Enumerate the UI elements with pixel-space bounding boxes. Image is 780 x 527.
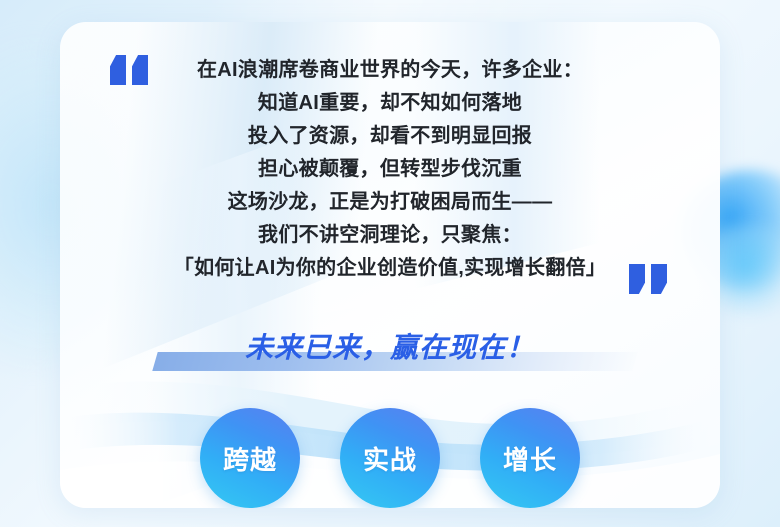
slogan-text: 未来已来，赢在现在！ bbox=[60, 326, 720, 366]
quote-line: 担心被颠覆，但转型步伐沉重 bbox=[60, 153, 720, 186]
poster-canvas: 在AI浪潮席卷商业世界的今天，许多企业： 知道AI重要，却不知如何落地 投入了资… bbox=[0, 0, 780, 527]
pillar-circle-kuayue[interactable]: 跨越 bbox=[200, 408, 300, 508]
quote-line-highlight: 「如何让AI为你的企业创造价值,实现增长翻倍」 bbox=[60, 252, 720, 285]
quote-line: 我们不讲空洞理论，只聚焦： bbox=[60, 219, 720, 252]
slogan-banner: 未来已来，赢在现在！ bbox=[60, 318, 720, 382]
quote-line: 在AI浪潮席卷商业世界的今天，许多企业： bbox=[60, 54, 720, 87]
pillar-circle-zengzhang[interactable]: 增长 bbox=[480, 408, 580, 508]
pillar-label: 增长 bbox=[503, 440, 557, 477]
quote-line: 投入了资源，却看不到明显回报 bbox=[60, 120, 720, 153]
pillar-label: 实战 bbox=[363, 440, 417, 477]
pillar-label: 跨越 bbox=[223, 440, 277, 477]
quote-line: 知道AI重要，却不知如何落地 bbox=[60, 87, 720, 120]
quote-line: 这场沙龙，正是为打破困局而生—— bbox=[60, 186, 720, 219]
quote-text-block: 在AI浪潮席卷商业世界的今天，许多企业： 知道AI重要，却不知如何落地 投入了资… bbox=[60, 54, 720, 285]
pillar-circle-row: 跨越 实战 增长 bbox=[60, 403, 720, 508]
quote-close-icon bbox=[629, 264, 673, 298]
pillar-circle-shizhan[interactable]: 实战 bbox=[340, 408, 440, 508]
quote-card: 在AI浪潮席卷商业世界的今天，许多企业： 知道AI重要，却不知如何落地 投入了资… bbox=[60, 22, 720, 508]
